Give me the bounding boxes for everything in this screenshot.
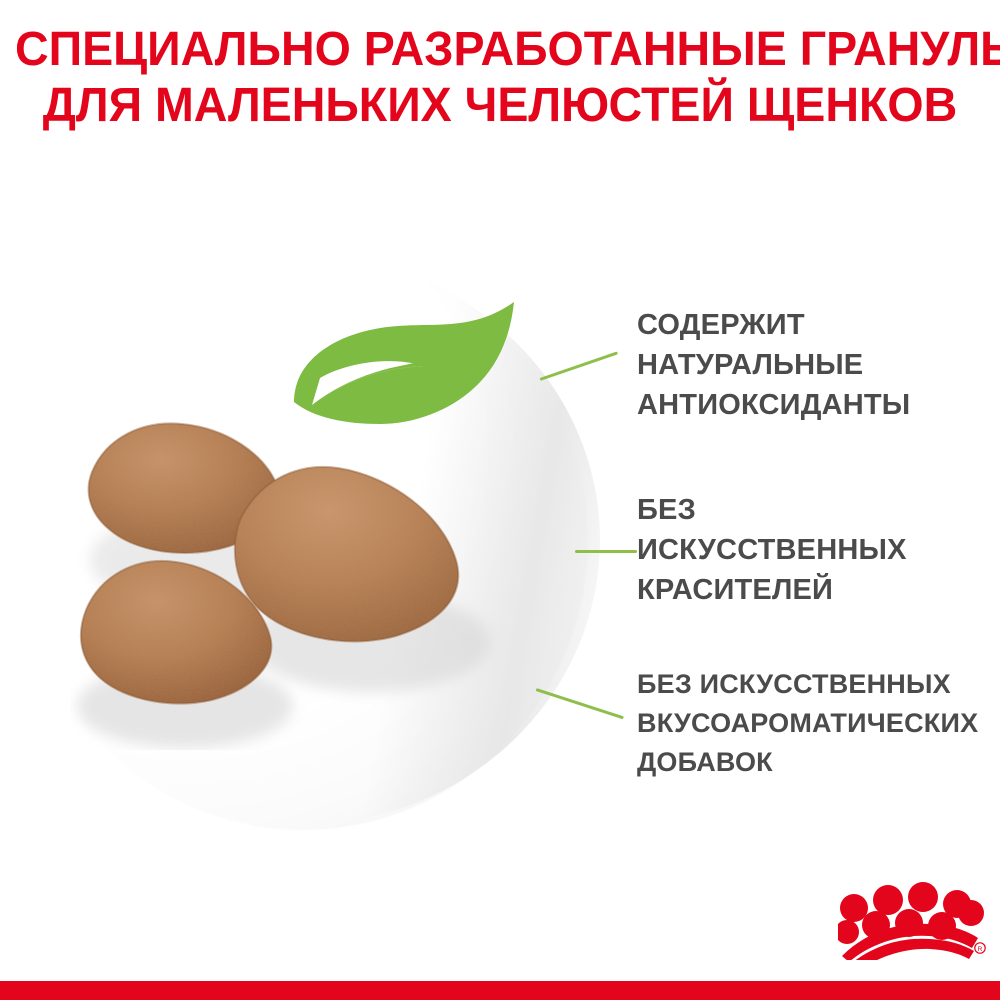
headline-line-1: СПЕЦИАЛЬНО РАЗРАБОТАННЫЕ ГРАНУЛЫ [15, 22, 985, 78]
feature-2-line-1: БЕЗ [637, 490, 907, 530]
connector-line-2 [575, 550, 637, 553]
headline-line-2: ДЛЯ МАЛЕНЬКИХ ЧЕЛЮСТЕЙ ЩЕНКОВ [15, 78, 985, 134]
svg-text:R: R [978, 946, 983, 953]
page-title: СПЕЦИАЛЬНО РАЗРАБОТАННЫЕ ГРАНУЛЫ ДЛЯ МАЛ… [15, 22, 985, 134]
feature-2-line-2: ИСКУССТВЕННЫХ [637, 530, 907, 570]
feature-no-artificial-colors: БЕЗ ИСКУССТВЕННЫХ КРАСИТЕЛЕЙ [637, 490, 907, 610]
feature-1-line-1: СОДЕРЖИТ [637, 305, 910, 345]
feature-3-line-1: БЕЗ ИСКУССТВЕННЫХ [637, 665, 978, 704]
feature-no-artificial-flavors: БЕЗ ИСКУССТВЕННЫХ ВКУСОАРОМАТИЧЕСКИХ ДОБ… [637, 665, 978, 782]
promo-banner: СПЕЦИАЛЬНО РАЗРАБОТАННЫЕ ГРАНУЛЫ ДЛЯ МАЛ… [0, 0, 1000, 1000]
footer-red-bar [0, 981, 1000, 1000]
feature-1-line-3: АНТИОКСИДАНТЫ [637, 385, 910, 425]
feature-1-line-2: НАТУРАЛЬНЫЕ [637, 345, 910, 385]
feature-3-line-2: ВКУСОАРОМАТИЧЕСКИХ [637, 704, 978, 743]
kibble-pieces-image [70, 410, 520, 750]
connector-line-3 [536, 688, 624, 719]
feature-2-line-3: КРАСИТЕЛЕЙ [637, 570, 907, 610]
feature-3-line-3: ДОБАВОК [637, 743, 978, 782]
connector-line-1 [540, 351, 619, 381]
royal-canin-crown-logo: R [838, 878, 986, 960]
registered-mark-icon: R [975, 943, 985, 953]
feature-natural-antioxidants: СОДЕРЖИТ НАТУРАЛЬНЫЕ АНТИОКСИДАНТЫ [637, 305, 910, 425]
